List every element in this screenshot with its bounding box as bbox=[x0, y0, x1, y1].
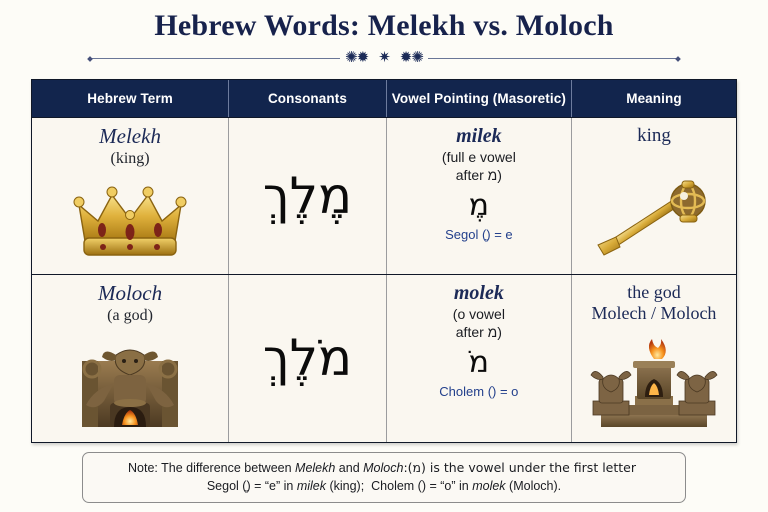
ornament-glyph-center: ✷ bbox=[373, 51, 395, 66]
note-milek-tail: (king); bbox=[326, 479, 371, 493]
scepter-illustration bbox=[588, 177, 720, 266]
table-row: Moloch (a god) bbox=[32, 274, 736, 442]
cell-meaning-melekh: king bbox=[572, 118, 736, 274]
footer-note-line-1: Note: The difference between Melekh and … bbox=[93, 459, 675, 477]
note-molek: molek bbox=[472, 479, 505, 493]
vowel-glyph-cholem-mem: מֹ bbox=[469, 343, 489, 382]
page-title: Hebrew Words: Melekh vs. Moloch bbox=[0, 9, 768, 44]
meaning-text-line1-moloch: the god bbox=[627, 282, 681, 303]
column-header-meaning: Meaning bbox=[572, 80, 736, 117]
cell-consonants-moloch: מֹלֶךְ bbox=[229, 275, 387, 442]
meaning-text-king: king bbox=[637, 125, 671, 147]
cell-term-moloch: Moloch (a god) bbox=[32, 275, 229, 442]
term-gloss-moloch: (a god) bbox=[107, 306, 153, 326]
vowel-glyph-segol-mem: מֶ bbox=[469, 186, 489, 225]
note-molek-tail: (Moloch). bbox=[506, 479, 562, 493]
term-name-moloch: Moloch bbox=[98, 282, 162, 305]
fire-altar-illustration bbox=[579, 339, 729, 434]
vowel-desc-line2-moloch: after מ) bbox=[456, 324, 502, 341]
note-suffix: is the vowel under the first letter (מ): bbox=[403, 460, 640, 475]
footer-note-line-2: Segol (ֶ) = “e” in milek (king); Cholem … bbox=[93, 477, 675, 495]
crown-illustration bbox=[71, 183, 189, 266]
table-header-row: Hebrew Term Consonants Vowel Pointing (M… bbox=[32, 80, 736, 117]
vowel-desc-line1-melekh: (full e vowel bbox=[442, 149, 516, 166]
ornament-line-right bbox=[428, 58, 680, 59]
ornament-line-left bbox=[88, 58, 340, 59]
vowel-note-segol: Segol (ֶ) = e bbox=[445, 227, 513, 242]
vowel-title-molek: molek bbox=[454, 282, 504, 305]
column-header-vowel-pointing: Vowel Pointing (Masoretic) bbox=[387, 80, 572, 117]
term-gloss-melekh: (king) bbox=[111, 149, 150, 169]
title-area: Hebrew Words: Melekh vs. Moloch ✺✹ ✷ ✹✺ bbox=[0, 0, 768, 68]
note-term-melekh: Melekh bbox=[295, 461, 335, 475]
note-segol-text: Segol (ֶ) = “e” in bbox=[207, 479, 297, 493]
comparison-table: Hebrew Term Consonants Vowel Pointing (M… bbox=[31, 79, 737, 443]
hebrew-word-melekh: מֶלֶךְ bbox=[263, 163, 352, 231]
note-milek: milek bbox=[297, 479, 326, 493]
moloch-idol-illustration bbox=[66, 333, 194, 434]
note-cholem-text: Cholem (ֹ) = “o” in bbox=[371, 479, 472, 493]
vowel-desc-line1-moloch: (o vowel bbox=[453, 306, 505, 323]
vowel-note-cholem: Cholem (ֹ) = o bbox=[439, 384, 518, 399]
vowel-desc-line2-melekh: after מ) bbox=[456, 167, 502, 184]
vowel-title-milek: milek bbox=[456, 125, 502, 148]
cell-term-melekh: Melekh (king) bbox=[32, 118, 229, 274]
cell-meaning-moloch: the god Molech / Moloch bbox=[572, 275, 736, 442]
column-header-hebrew-term: Hebrew Term bbox=[32, 80, 229, 117]
meaning-text-line2-moloch: Molech / Moloch bbox=[591, 303, 716, 324]
ornament-glyph-left: ✺✹ bbox=[340, 51, 373, 66]
note-term-moloch: Moloch bbox=[363, 461, 403, 475]
term-name-melekh: Melekh bbox=[99, 125, 161, 148]
title-ornament-divider: ✺✹ ✷ ✹✺ bbox=[88, 50, 680, 68]
column-header-consonants: Consonants bbox=[229, 80, 387, 117]
infographic-page: Hebrew Words: Melekh vs. Moloch ✺✹ ✷ ✹✺ … bbox=[0, 0, 768, 512]
cell-consonants-melekh: מֶלֶךְ bbox=[229, 118, 387, 274]
note-prefix: Note: The difference between bbox=[128, 461, 295, 475]
cell-vowel-moloch: molek (o vowel after מ) מֹ Cholem (ֹ) = … bbox=[387, 275, 572, 442]
ornament-glyph-right: ✹✺ bbox=[395, 51, 428, 66]
cell-vowel-melekh: milek (full e vowel after מ) מֶ Segol (ֶ… bbox=[387, 118, 572, 274]
table-row: Melekh (king) bbox=[32, 117, 736, 274]
hebrew-word-molekh: מֹלֶךְ bbox=[263, 325, 352, 393]
note-mid: and bbox=[335, 461, 363, 475]
footer-note-box: Note: The difference between Melekh and … bbox=[82, 452, 686, 503]
